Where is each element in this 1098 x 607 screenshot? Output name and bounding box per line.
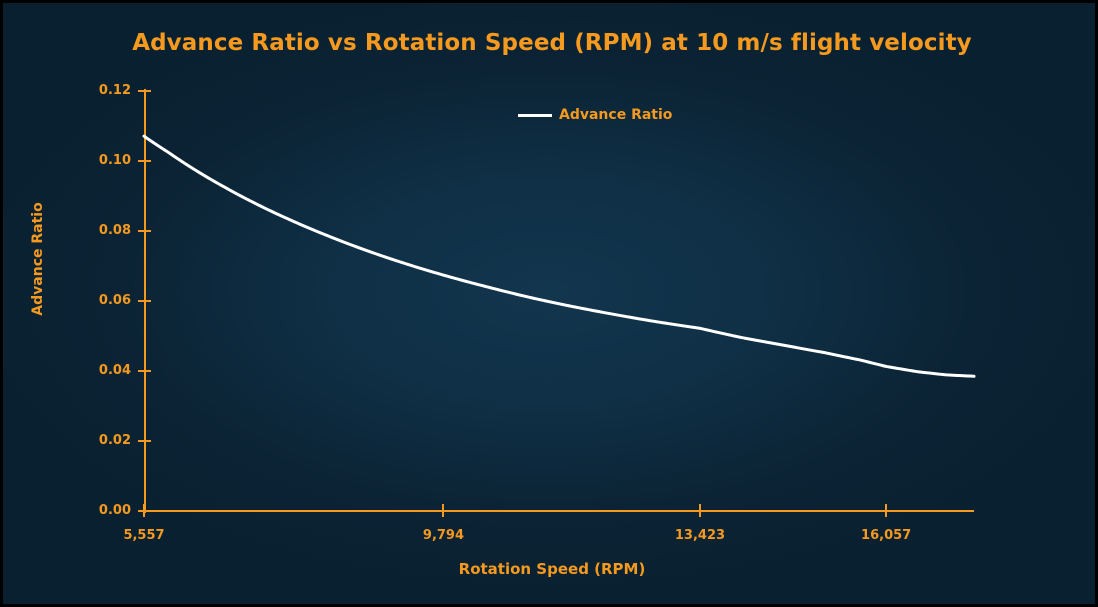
y-tick-label-text: 0.10 <box>87 153 131 168</box>
y-tick-label-text: 0.00 <box>87 503 131 518</box>
x-tick-label-text: 13,423 <box>675 528 725 543</box>
x-tick-label: 5,557 <box>84 524 204 543</box>
x-tick-label-text: 9,794 <box>423 528 464 543</box>
x-axis-title: Rotation Speed (RPM) <box>3 560 1098 578</box>
y-tick-label: 0.12 <box>83 83 131 99</box>
y-tick-label-text: 0.12 <box>87 83 131 98</box>
y-tick-label: 0.10 <box>83 153 131 169</box>
chart-title: Advance Ratio vs Rotation Speed (RPM) at… <box>3 30 1098 56</box>
y-tick-label: 0.00 <box>83 503 131 519</box>
x-tick-label-text: 5,557 <box>123 528 164 543</box>
y-axis-title: Advance Ratio <box>30 179 46 339</box>
y-tick-label: 0.06 <box>83 293 131 309</box>
y-tick-label-text: 0.06 <box>87 293 131 308</box>
series-line-advance-ratio <box>144 136 974 376</box>
y-tick-label-text: 0.08 <box>87 223 131 238</box>
y-tick-label-text: 0.02 <box>87 433 131 448</box>
x-tick-label-text: 16,057 <box>861 528 911 543</box>
y-tick-label-text: 0.04 <box>87 363 131 378</box>
series-plot-area <box>144 91 976 513</box>
y-tick-label: 0.02 <box>83 433 131 449</box>
chart-figure: Advance Ratio vs Rotation Speed (RPM) at… <box>0 0 1098 607</box>
y-tick-label: 0.08 <box>83 223 131 239</box>
x-tick-label: 13,423 <box>640 524 760 543</box>
x-tick-label: 16,057 <box>826 524 946 543</box>
x-tick-label: 9,794 <box>383 524 503 543</box>
y-tick-label: 0.04 <box>83 363 131 379</box>
